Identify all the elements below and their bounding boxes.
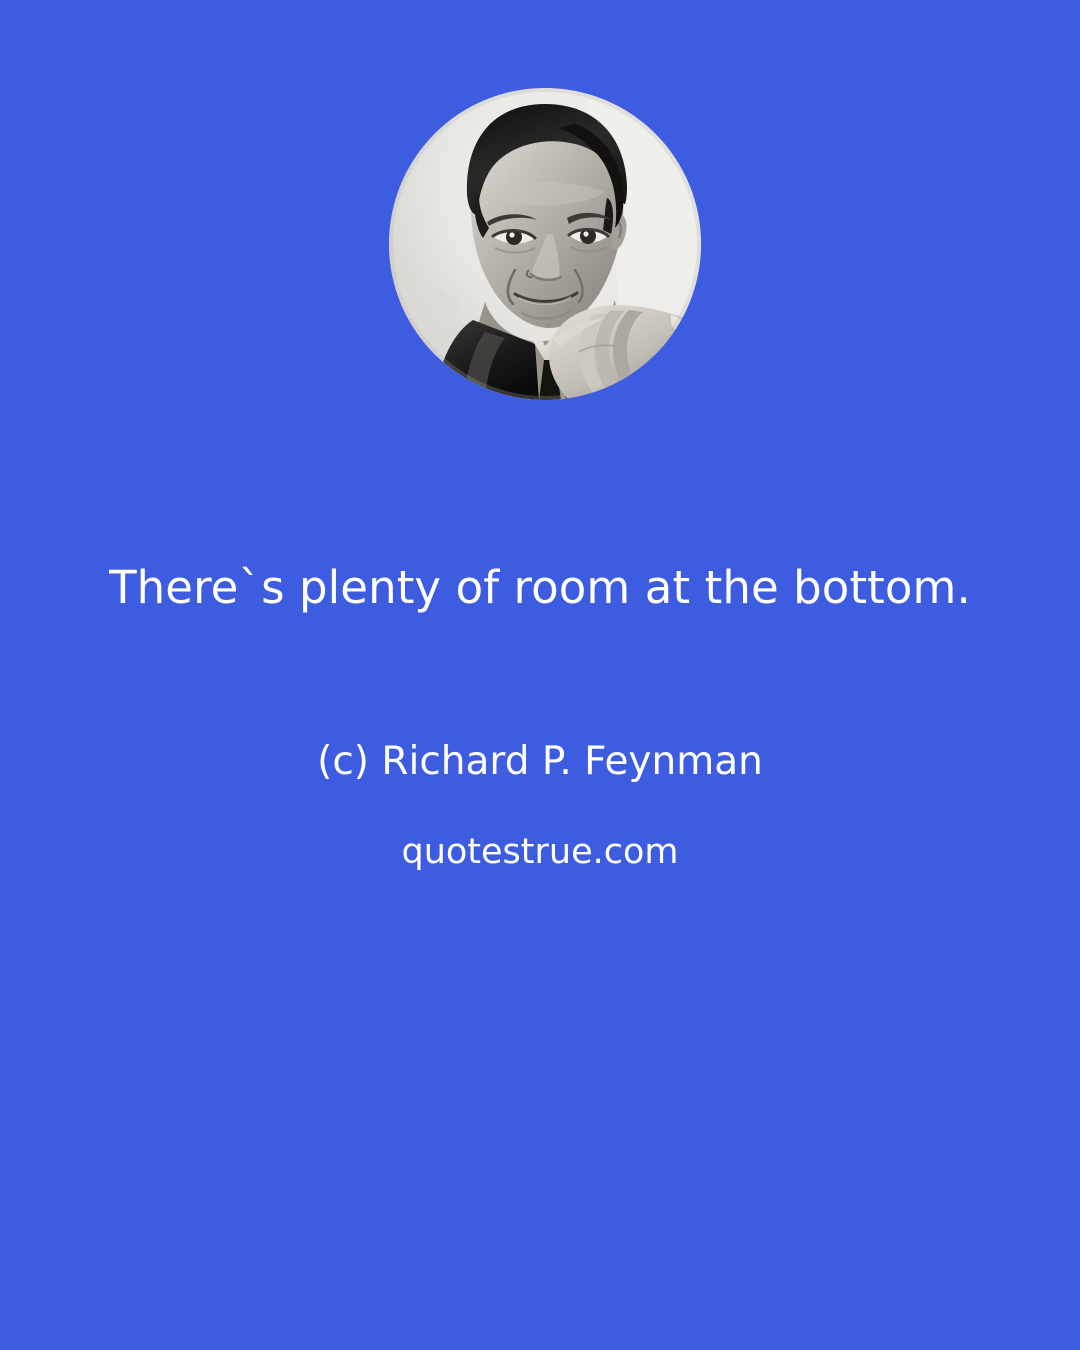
quote-text: There`s plenty of room at the bottom. xyxy=(100,560,980,617)
quote-attribution: (c) Richard P. Feynman xyxy=(0,617,1080,786)
portrait-photo-icon xyxy=(389,88,701,400)
source-website: quotestrue.com xyxy=(0,785,1080,873)
quote-card: There`s plenty of room at the bottom. (c… xyxy=(0,0,1080,1350)
author-portrait-avatar xyxy=(389,88,701,400)
quote-text-block: There`s plenty of room at the bottom. (c… xyxy=(0,560,1080,873)
